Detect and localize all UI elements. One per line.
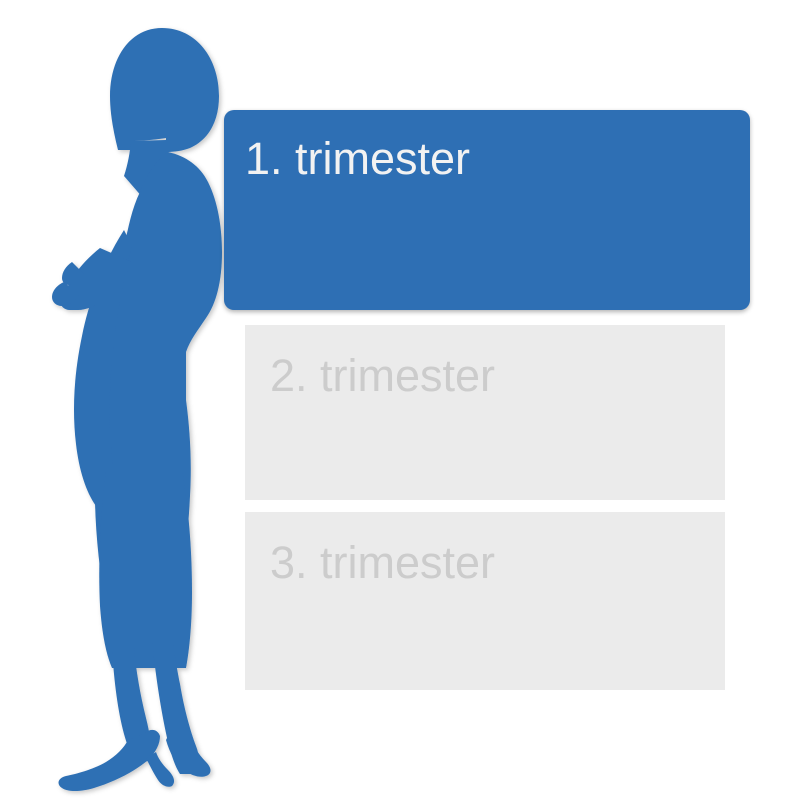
trimester-option-1-label: 1. trimester bbox=[245, 136, 470, 181]
trimester-option-1[interactable]: 1. trimester bbox=[224, 110, 750, 310]
trimester-option-3[interactable]: 3. trimester bbox=[245, 512, 725, 690]
trimester-option-2-label: 2. trimester bbox=[270, 353, 495, 398]
trimester-infographic: 1. trimester 2. trimester 3. trimester bbox=[0, 0, 800, 800]
trimester-option-3-label: 3. trimester bbox=[270, 540, 495, 585]
pregnant-woman-silhouette-icon bbox=[0, 0, 260, 800]
trimester-option-2[interactable]: 2. trimester bbox=[245, 325, 725, 500]
